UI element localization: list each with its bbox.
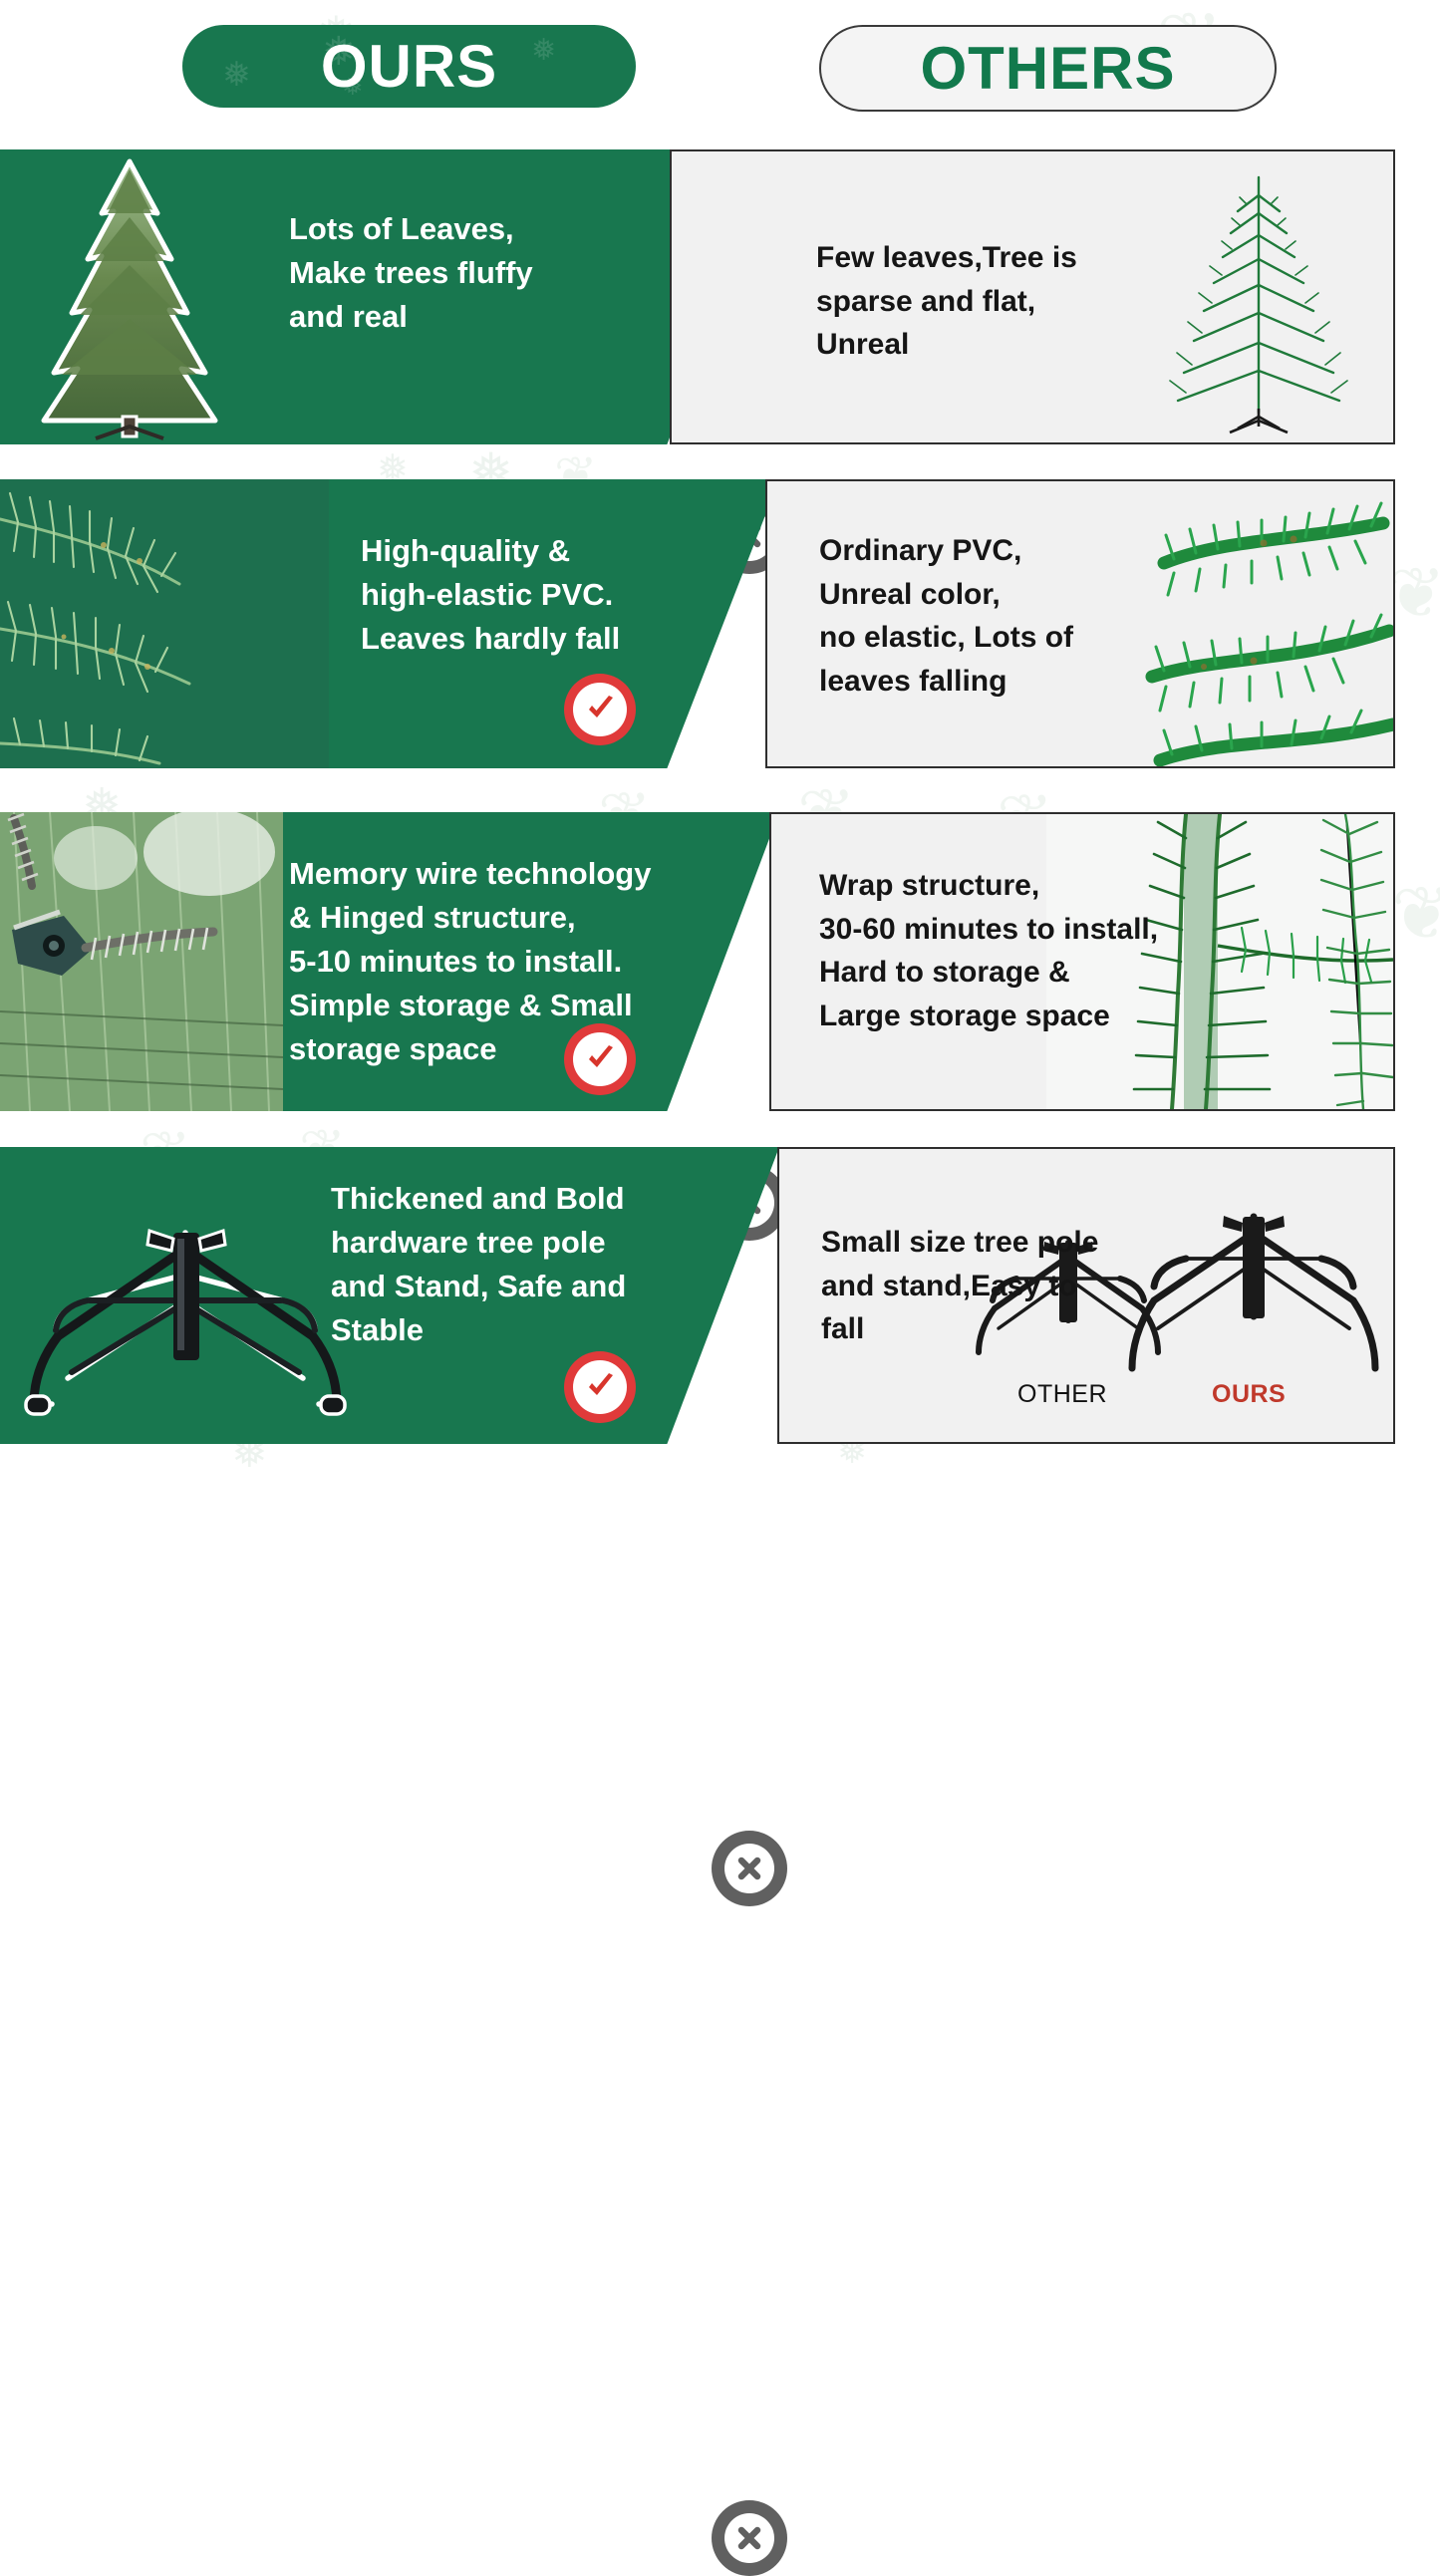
others-text-1: Few leaves,Tree is sparse and flat, Unre… (816, 236, 1077, 367)
check-badge-3 (564, 1023, 636, 1095)
check-badge-2 (564, 674, 636, 745)
ours-text-2: High-quality & high-elastic PVC. Leaves … (361, 529, 620, 661)
others-panel-1: Few leaves,Tree is sparse and flat, Unre… (670, 149, 1395, 444)
others-panel-2: Ordinary PVC, Unreal color, no elastic, … (765, 479, 1395, 768)
ours-panel-2: High-quality & high-elastic PVC. Leaves … (0, 479, 779, 768)
ours-text-1: Lots of Leaves, Make trees fluffy and re… (289, 207, 533, 339)
stand-label-other: OTHER (1017, 1380, 1107, 1409)
others-text-3: Wrap structure, 30-60 minutes to install… (819, 864, 1158, 1037)
others-badge-label: OTHERS (920, 34, 1175, 103)
heavy-duty-tree-stand-icon (18, 1209, 353, 1423)
ours-panel-1: Lots of Leaves, Make trees fluffy and re… (0, 149, 779, 444)
cross-badge-3 (712, 1831, 787, 1906)
others-text-4: Small size tree pole and stand,Easy to f… (821, 1221, 1098, 1351)
comparison-row-4: Thickened and Bold hardware tree pole an… (0, 1147, 1440, 1444)
ours-badge: ❅ ❅ ❅ ❅ OURS (182, 25, 636, 108)
check-icon (583, 1370, 617, 1404)
cross-badge-4 (712, 2500, 787, 2576)
cross-icon (733, 1853, 765, 1884)
ours-badge-label: OURS (321, 32, 497, 101)
others-badge: OTHERS (819, 25, 1277, 112)
ordinary-pvc-branch-icon (1144, 481, 1395, 768)
ours-panel-3: Memory wire technology & Hinged structur… (0, 812, 779, 1111)
dense-christmas-tree-icon (10, 155, 249, 442)
ours-text-4: Thickened and Bold hardware tree pole an… (331, 1177, 626, 1352)
hinged-memory-wire-icon (0, 812, 283, 1111)
ours-panel-4: Thickened and Bold hardware tree pole an… (0, 1147, 779, 1444)
others-text-2: Ordinary PVC, Unreal color, no elastic, … (819, 529, 1073, 703)
comparison-row-3: Memory wire technology & Hinged structur… (0, 812, 1440, 1111)
check-badge-4 (564, 1351, 636, 1423)
realistic-pvc-branch-icon (0, 479, 329, 768)
header: ❅ ❅ ❅ ❅ OURS OTHERS (0, 0, 1440, 140)
check-icon (583, 693, 617, 726)
check-icon (583, 1042, 617, 1076)
comparison-row-1: Lots of Leaves, Make trees fluffy and re… (0, 149, 1440, 444)
others-panel-3: Wrap structure, 30-60 minutes to install… (769, 812, 1395, 1111)
comparison-row-2: High-quality & high-elastic PVC. Leaves … (0, 479, 1440, 768)
stand-label-ours: OURS (1212, 1380, 1286, 1409)
others-panel-4: OTHER OURS Small size tree pole and stan… (777, 1147, 1395, 1444)
sparse-christmas-tree-icon (1152, 161, 1366, 436)
cross-icon (733, 2522, 765, 2554)
